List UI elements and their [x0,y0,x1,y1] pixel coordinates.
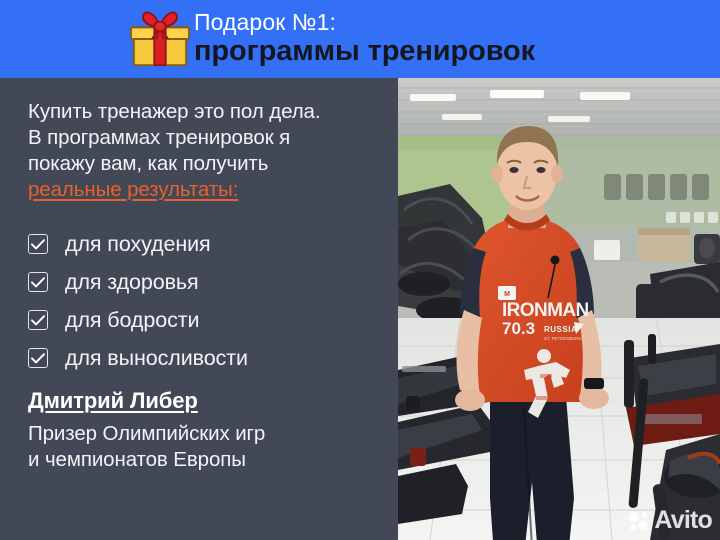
checkbox-checked-icon [28,310,48,330]
svg-text:70.3: 70.3 [502,319,535,338]
intro-line-1: Купить тренажер это пол дела. [28,99,398,125]
checkbox-checked-icon [28,272,48,292]
list-item: для бодрости [28,303,398,337]
intro-line-3: покажу вам, как получить [28,151,398,177]
header-title-line1: Подарок №1: [194,11,535,34]
list-item: для похудения [28,227,398,261]
gift-icon [129,8,191,70]
list-item: для здоровья [28,265,398,299]
intro-paragraph: Купить тренажер это пол дела. В программ… [28,99,398,203]
header-title-line2: программы тренировок [194,37,535,67]
list-item: для выносливости [28,341,398,375]
benefits-checklist: для похудения для здоровья для бодрости [28,227,398,375]
author-credentials: Призер Олимпийских игр и чемпионатов Евр… [28,421,398,473]
avito-watermark: Avito [628,508,712,533]
avito-dots-icon [628,510,650,532]
author-credentials-line-1: Призер Олимпийских игр [28,421,398,447]
author-credentials-line-2: и чемпионатов Европы [28,447,398,473]
checkbox-checked-icon [28,234,48,254]
promo-image: Подарок №1: программы тренировок Купить … [0,0,720,540]
list-item-label: для бодрости [65,308,199,333]
checkbox-checked-icon [28,348,48,368]
svg-text:IRONMAN: IRONMAN [502,300,589,321]
list-item-label: для похудения [65,232,211,257]
intro-line-2: В программах тренировок я [28,125,398,151]
list-item-label: для выносливости [65,346,248,371]
avito-wordmark: Avito [654,508,712,533]
svg-text:M: M [504,291,510,298]
svg-text:RUSSIA: RUSSIA [544,325,577,334]
header-text-block: Подарок №1: программы тренировок [194,11,535,67]
author-name: Дмитрий Либер [28,388,398,414]
left-content-panel: Купить тренажер это пол дела. В программ… [0,78,398,540]
list-item-label: для здоровья [65,270,199,295]
product-photo: M IRONMAN 70.3 RUSSIA ST. PETERSBURG [398,78,720,540]
header-banner: Подарок №1: программы тренировок [0,0,720,78]
signature-block: Дмитрий Либер Призер Олимпийских игр и ч… [28,388,398,473]
svg-text:ST. PETERSBURG: ST. PETERSBURG [544,336,582,341]
highlight-text: реальные результаты: [28,177,398,203]
